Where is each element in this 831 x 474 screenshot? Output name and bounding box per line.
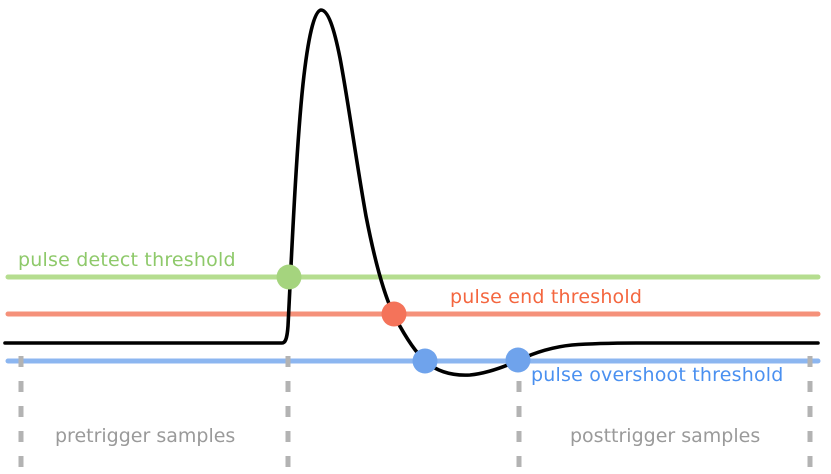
plot-canvas (0, 0, 831, 474)
pretrigger-samples-label: pretrigger samples (55, 425, 235, 447)
pulse-threshold-diagram: pulse detect threshold pulse end thresho… (0, 0, 831, 474)
overshoot-exit-crossing-marker (506, 348, 531, 373)
pulse-detect-threshold-label: pulse detect threshold (18, 249, 236, 271)
pulse-end-threshold-label: pulse end threshold (450, 286, 642, 308)
pulse-end-crossing-marker (382, 302, 407, 327)
crossing-markers (277, 265, 531, 374)
pulse-signal-curve (5, 10, 818, 375)
pulse-detect-crossing-marker (277, 265, 302, 290)
pulse-overshoot-threshold-label: pulse overshoot threshold (531, 364, 784, 386)
overshoot-entry-crossing-marker (413, 349, 438, 374)
posttrigger-samples-label: posttrigger samples (570, 425, 760, 447)
